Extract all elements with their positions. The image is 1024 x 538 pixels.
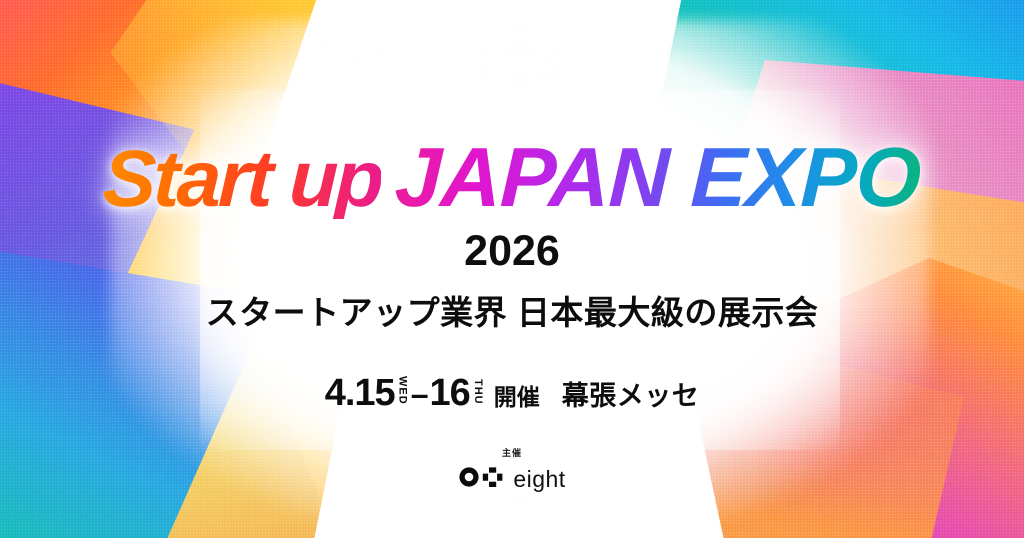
- date-separator: –: [411, 378, 429, 410]
- event-tagline: スタートアップ業界 日本最大級の展示会: [206, 286, 819, 334]
- date-end-dow: THU: [472, 379, 483, 405]
- date-end-day: 16: [429, 374, 469, 412]
- host-name: eight: [513, 468, 565, 491]
- wordmark-japan-expo: JAPAN EXPO: [394, 135, 922, 219]
- event-wordmark: Start up JAPAN EXPO: [103, 135, 921, 219]
- poster-content: Start up JAPAN EXPO 2026 スタートアップ業界 日本最大級…: [0, 0, 1024, 538]
- event-venue: 幕張メッセ: [562, 383, 700, 410]
- event-year: 2026: [464, 227, 560, 276]
- host-block: 主催 eight: [458, 446, 565, 494]
- wordmark-startup: Start up: [102, 139, 383, 219]
- date-held-label: 開催: [494, 386, 540, 409]
- poster-canvas: Start up JAPAN EXPO 2026 スタートアップ業界 日本最大級…: [0, 0, 1024, 538]
- eight-logo-icon: [458, 465, 504, 494]
- date-start-dow: WED: [397, 376, 408, 405]
- host-logo: eight: [458, 465, 565, 494]
- event-dateline: 4.15 WED – 16 THU 開催 幕張メッセ: [325, 374, 700, 412]
- date-start-day: 4.15: [325, 374, 395, 412]
- host-label: 主催: [502, 446, 522, 459]
